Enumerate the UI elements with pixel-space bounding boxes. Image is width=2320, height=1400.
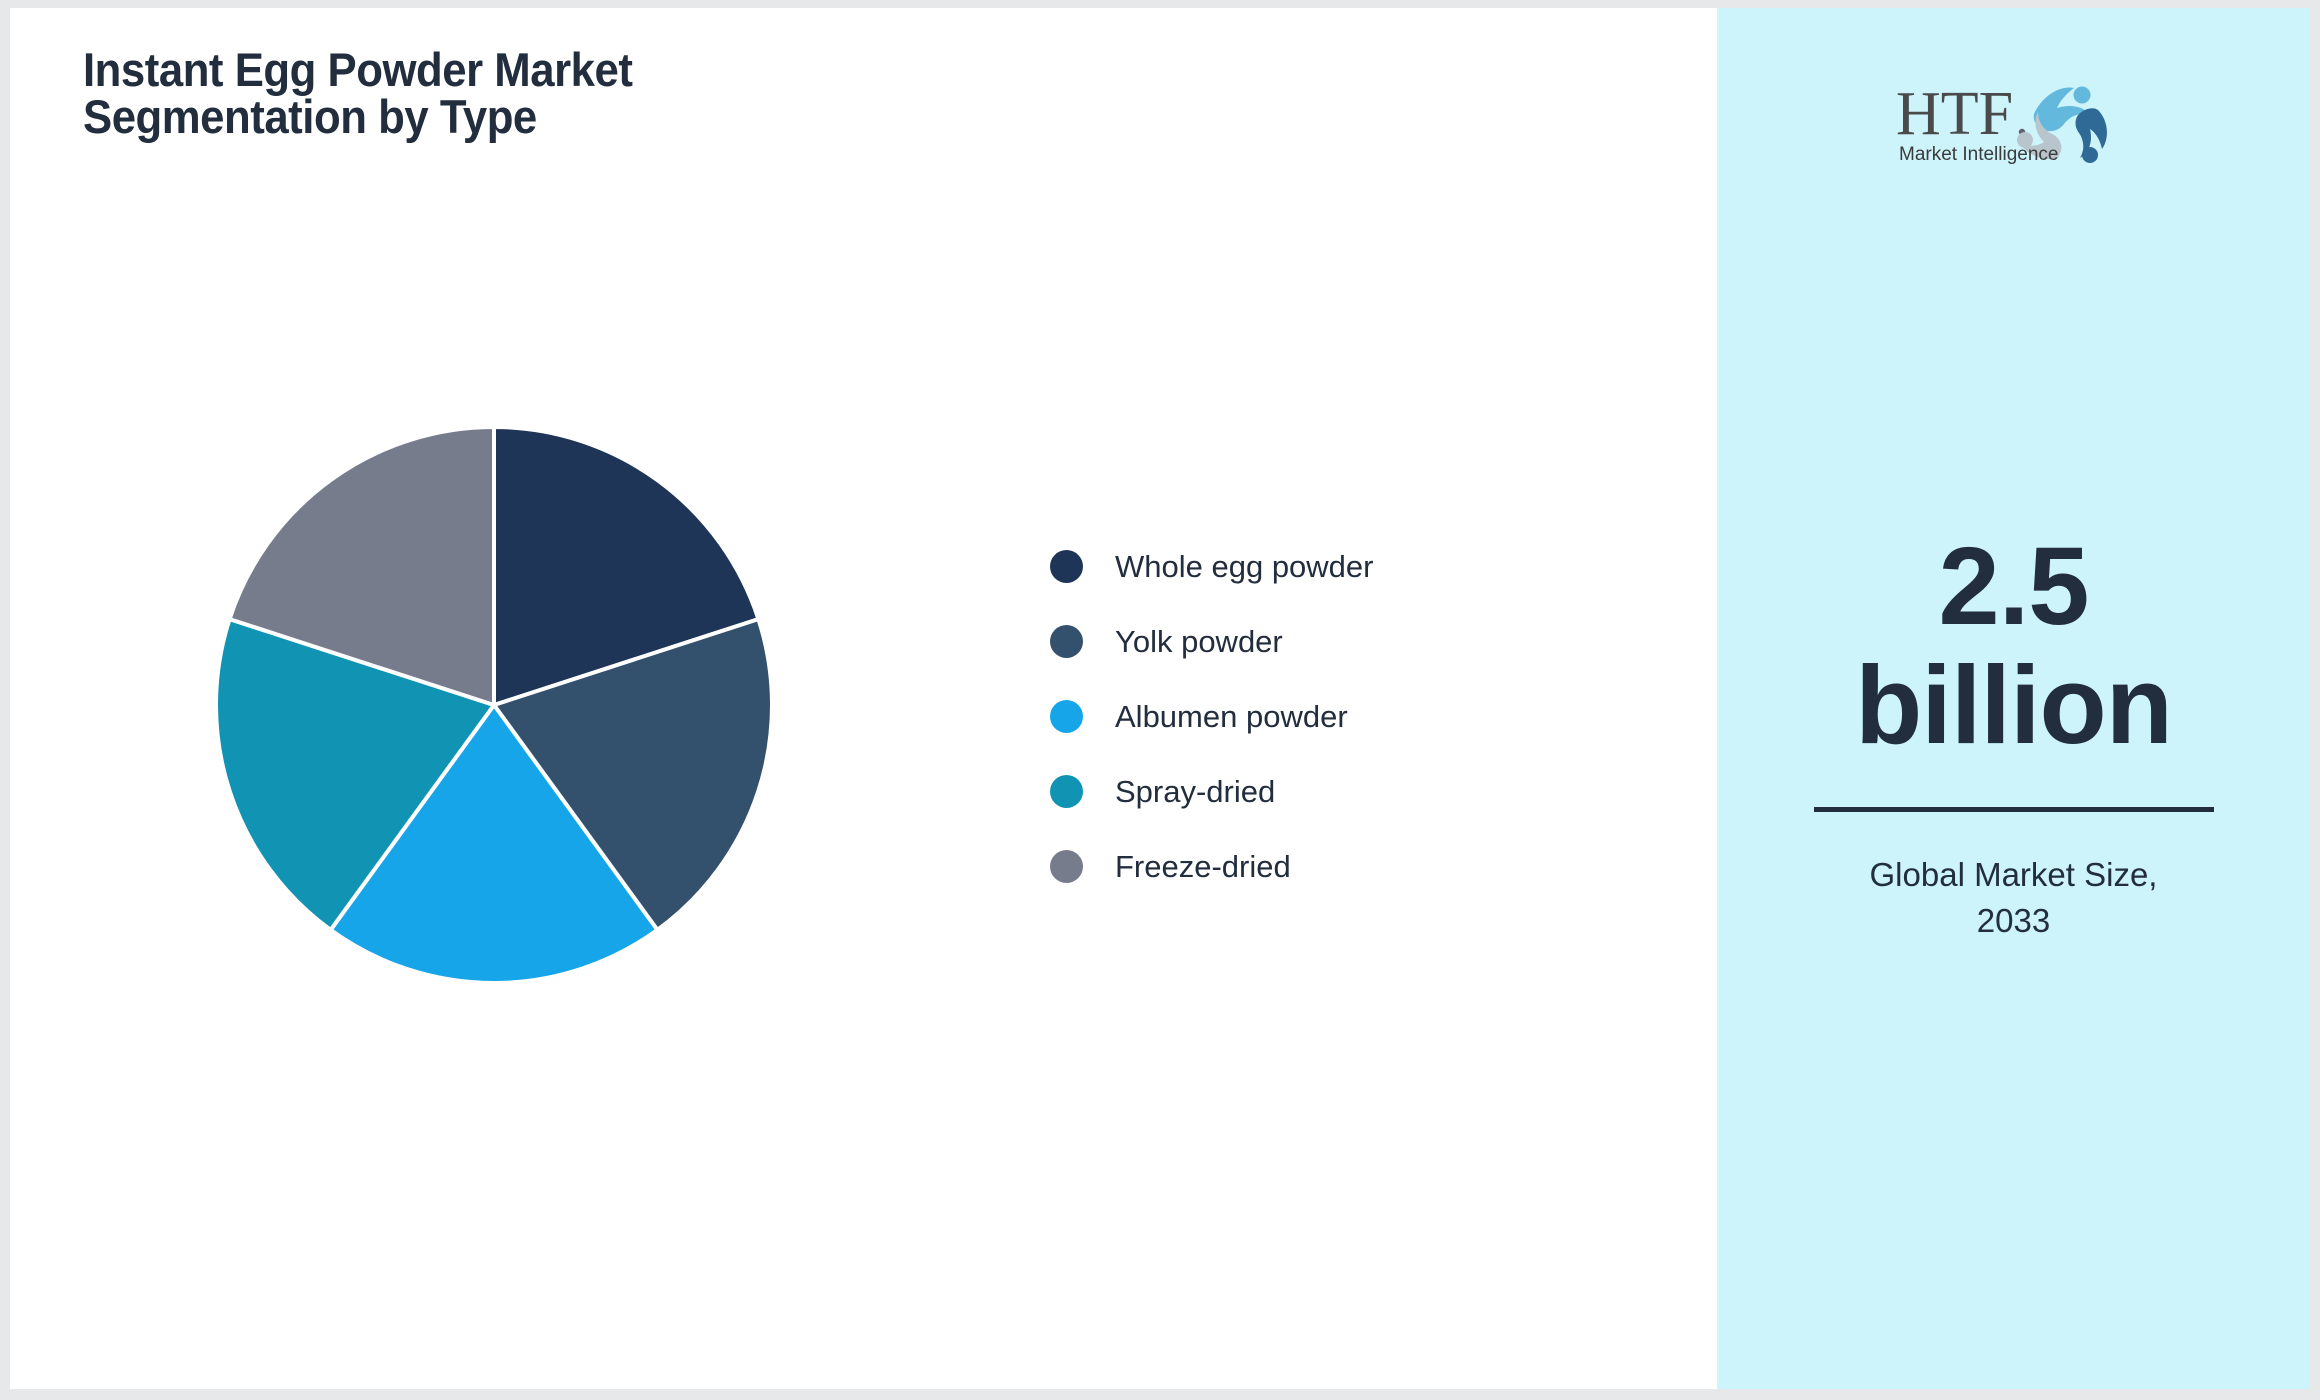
page-title: Instant Egg Powder Market Segmentation b…: [83, 46, 920, 140]
stat-divider: [1814, 807, 2214, 812]
stat-value: 2.5 billion: [1717, 528, 2310, 766]
legend-swatch-icon: [1050, 700, 1083, 733]
logo-tagline-text: Market Intelligence: [1899, 144, 2058, 165]
pie-chart-svg: [209, 420, 779, 990]
legend-item-label: Whole egg powder: [1115, 549, 1374, 585]
logo-wordmark-text: HTF: [1896, 80, 2013, 148]
chart-legend: Whole egg powder Yolk powder Albumen pow…: [1050, 529, 1570, 904]
legend-swatch-icon: [1050, 550, 1083, 583]
legend-item-label: Freeze-dried: [1115, 849, 1291, 885]
htf-logo-icon: HTF: [1894, 70, 2134, 165]
legend-item[interactable]: Freeze-dried: [1050, 829, 1570, 904]
legend-swatch-icon: [1050, 775, 1083, 808]
htf-market-intelligence-logo: HTF: [1717, 70, 2310, 165]
pie-chart: [209, 420, 779, 990]
legend-item[interactable]: Spray-dried: [1050, 754, 1570, 829]
legend-item[interactable]: Albumen powder: [1050, 679, 1570, 754]
legend-item[interactable]: Yolk powder: [1050, 604, 1570, 679]
legend-swatch-icon: [1050, 625, 1083, 658]
stat-panel: HTF: [1717, 8, 2310, 1389]
legend-item-label: Albumen powder: [1115, 699, 1348, 735]
infographic-card: Instant Egg Powder Market Segmentation b…: [10, 8, 2310, 1389]
chart-panel: Instant Egg Powder Market Segmentation b…: [10, 8, 1717, 1389]
market-size-stat: 2.5 billion Global Market Size, 2033: [1717, 528, 2310, 945]
legend-item-label: Spray-dried: [1115, 774, 1275, 810]
chart-infographic-page: Instant Egg Powder Market Segmentation b…: [0, 0, 2320, 1400]
stat-caption: Global Market Size, 2033: [1717, 852, 2310, 946]
legend-item-label: Yolk powder: [1115, 624, 1283, 660]
legend-item[interactable]: Whole egg powder: [1050, 529, 1570, 604]
legend-swatch-icon: [1050, 850, 1083, 883]
